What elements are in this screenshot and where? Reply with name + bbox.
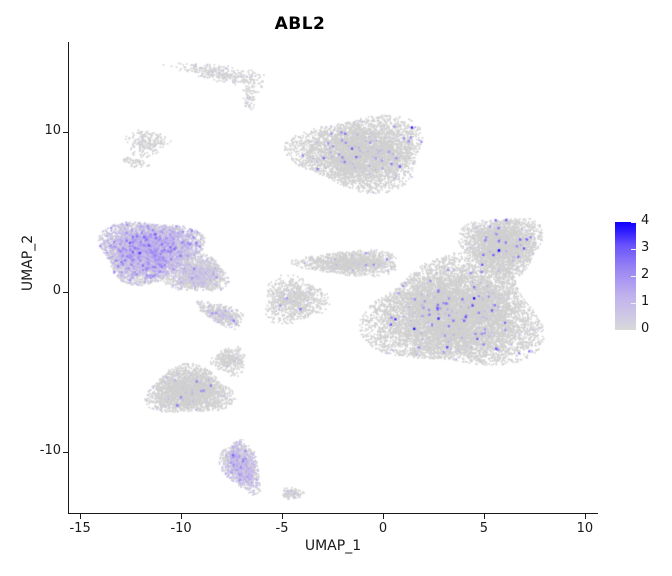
colorbar-tick-mark [631,249,636,250]
x-tick-mark [181,514,182,519]
x-tick-mark [585,514,586,519]
colorbar-tick-label: 3 [641,240,649,255]
colorbar-tick-label: 2 [641,267,649,282]
x-tick-label: 0 [363,521,403,536]
x-tick-label: -15 [60,521,100,536]
x-tick-mark [80,514,81,519]
colorbar-tick-mark [631,222,636,223]
colorbar-tick-label: 0 [641,321,649,336]
plot-panel [68,42,597,513]
scatter-canvas [68,42,597,513]
x-axis-line [68,513,598,514]
x-tick-mark [383,514,384,519]
x-axis-label: UMAP_1 [68,538,598,554]
x-tick-mark [282,514,283,519]
x-tick-label: 5 [464,521,504,536]
y-axis-label: UMAP_2 [20,183,36,343]
y-tick-label: 10 [21,123,61,138]
x-tick-mark [484,514,485,519]
colorbar-tick-mark [631,303,636,304]
colorbar-tick-label: 4 [641,213,649,228]
umap-feature-plot: ABL2 -15-10-50510 100-10 UMAP_1 UMAP_2 4… [0,0,672,576]
x-tick-label: 10 [565,521,605,536]
y-tick-mark [63,452,68,453]
y-tick-label: -10 [21,443,61,458]
y-tick-mark [63,292,68,293]
colorbar-tick-label: 1 [641,294,649,309]
colorbar-legend: 43210 [612,218,672,343]
colorbar-tick-mark [631,276,636,277]
page-title: ABL2 [0,14,600,34]
y-axis-line [68,42,69,514]
x-tick-label: -10 [161,521,201,536]
y-tick-mark [63,132,68,133]
x-tick-label: -5 [262,521,302,536]
